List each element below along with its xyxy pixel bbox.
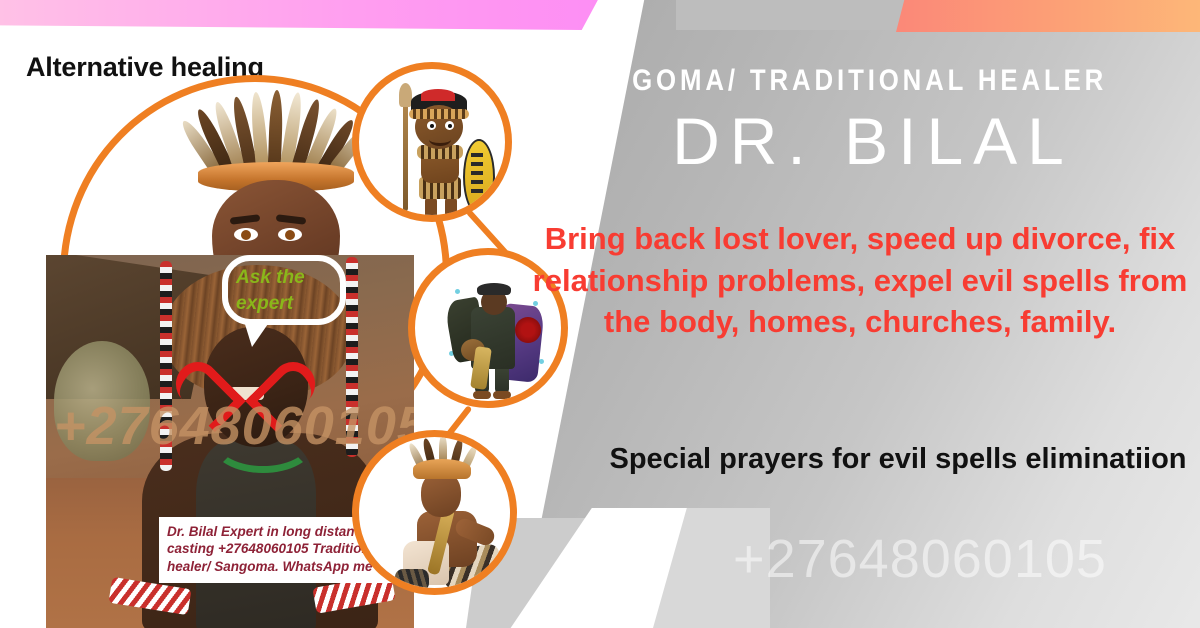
speech-bubble-text: Ask the expert — [236, 265, 342, 316]
poster-canvas: Alternative healing — [0, 0, 1200, 628]
zulu-warrior-icon — [359, 69, 505, 215]
circle-zulu-warrior — [352, 62, 512, 222]
pink-accent-band — [0, 0, 600, 30]
brand-name: DR. BILAL — [566, 103, 1180, 179]
crouching-sangoma-icon — [359, 437, 510, 588]
speech-bubble-tail — [244, 321, 270, 347]
subheading-special-prayers: Special prayers for evil spells eliminat… — [600, 440, 1196, 479]
phone-watermark: +27648060105 — [640, 528, 1200, 590]
circle-crouching-sangoma — [352, 430, 517, 595]
figure-pupil-left — [241, 230, 251, 240]
kicker-text: SANGOMA/ TRADITIONAL HEALER — [566, 64, 1094, 98]
services-pitch: Bring back lost lover, speed up divorce,… — [530, 218, 1190, 343]
figure-pupil-right — [285, 230, 295, 240]
orange-accent-band — [896, 0, 1200, 32]
